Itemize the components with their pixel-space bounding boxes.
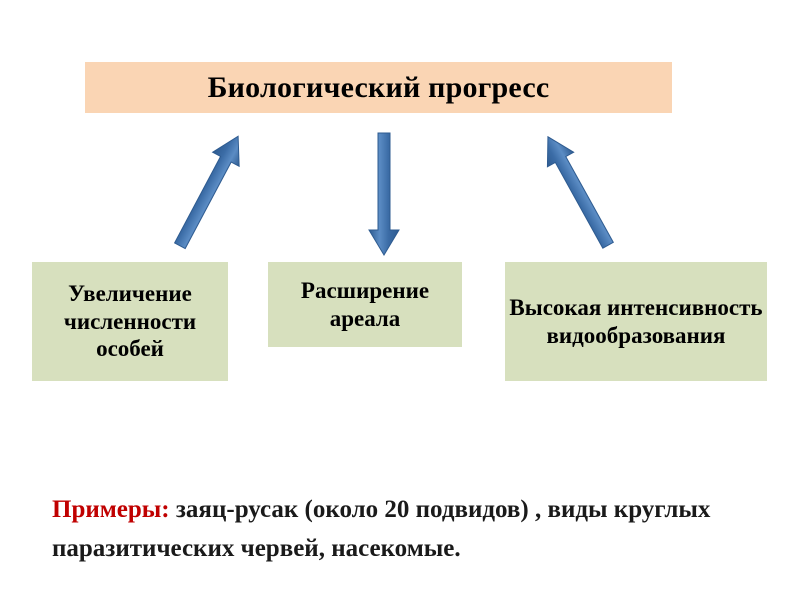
page-title: Биологический прогресс (208, 73, 550, 103)
title-box: Биологический прогресс (85, 62, 672, 113)
outcome-box-high-speciation-intensity: Высокая интенсивность видообразования (505, 262, 767, 381)
outcome-box-increase-in-number: Увеличение численности особей (32, 262, 228, 381)
outcome-label: Высокая интенсивность видообразования (505, 294, 767, 349)
outcome-label: Расширение ареала (268, 277, 462, 332)
outcome-box-range-expansion: Расширение ареала (268, 262, 462, 347)
outcome-label: Увеличение численности особей (32, 280, 228, 362)
arrow-middle-icon (369, 133, 399, 255)
arrow-left-icon (167, 129, 252, 253)
examples-label: Примеры: (52, 496, 170, 523)
arrow-right-icon (535, 130, 621, 253)
examples-paragraph: Примеры: заяц-русак (около 20 подвидов) … (52, 491, 752, 569)
slide-canvas: Биологический прогресс (0, 0, 800, 600)
